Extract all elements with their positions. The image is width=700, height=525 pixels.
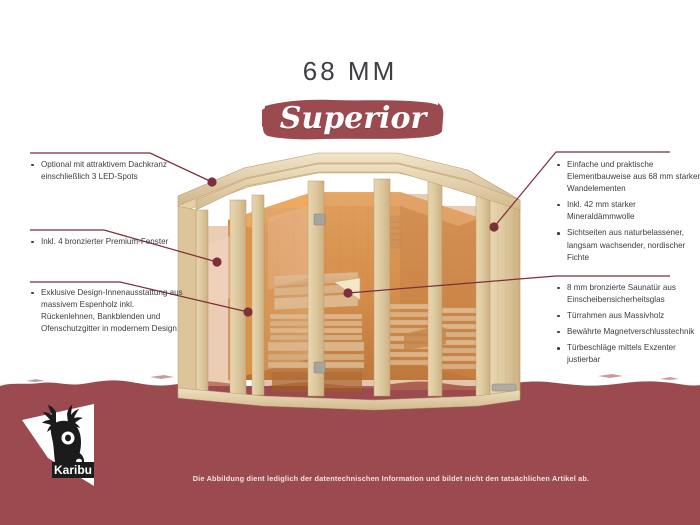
annotation-bronzed-windows: Inkl. 4 bronzierter Premium-Fenster [30,236,180,248]
annotation-item: Inkl. 42 mm starker Mineraldämmwolle [556,199,700,223]
model-banner: Superior [262,96,444,142]
annotation-item: Bewährte Magnetverschlusstechnik [556,326,700,338]
annotation-item: Einfache und praktische Elementbauweise … [556,159,700,195]
annotation-item: Türrahmen aus Massivholz [556,310,700,322]
infographic-canvas: 68 MM Superior [0,0,700,525]
model-name-text: Superior [262,96,444,142]
sauna-cabin-illustration [168,148,532,413]
annotation-roof-crown: Optional mit attraktivem Dachkranz einsc… [30,159,180,183]
annotation-item: Optional mit attraktivem Dachkranz einsc… [30,159,180,183]
annotation-item: Exklusive Design-Innenausstattung aus ma… [30,287,188,335]
annotation-door-features: 8 mm bronzierte Saunatür aus Einscheiben… [556,282,700,367]
page-title: 68 MM [0,56,700,87]
annotation-item: Sichtseiten aus naturbelassener, langsam… [556,227,700,263]
annotation-interior-design: Exklusive Design-Innenausstattung aus ma… [30,287,188,335]
disclaimer-text: Die Abbildung dient lediglich der datent… [0,474,700,483]
annotation-wall-construction: Einfache und praktische Elementbauweise … [556,159,700,264]
annotation-item: Türbeschläge mittels Exzenter justierbar [556,342,700,366]
annotation-item: Inkl. 4 bronzierter Premium-Fenster [30,236,180,248]
annotation-item: 8 mm bronzierte Saunatür aus Einscheiben… [556,282,700,306]
